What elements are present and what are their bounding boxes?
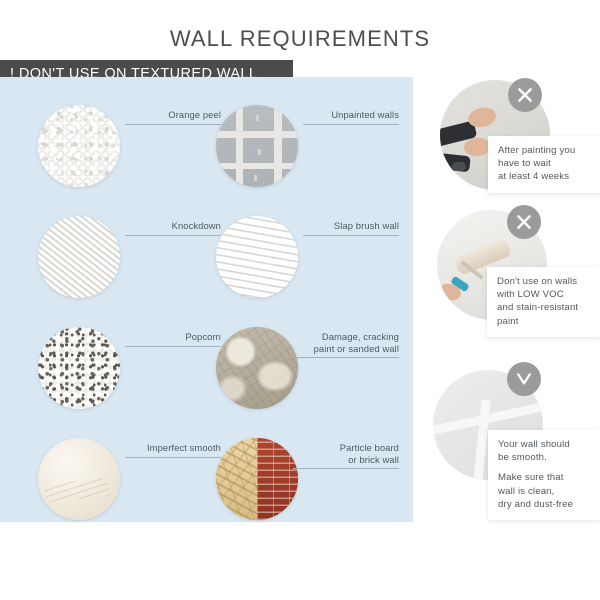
note-line: have to wait (498, 157, 597, 170)
texture-slap-brush-swatch (216, 216, 298, 298)
texture-orange-peel-swatch (38, 105, 120, 187)
texture-item-damage-cracking: Damage, cracking paint or sanded wall (203, 313, 403, 424)
requirement-note-card: Your wall should be smooth. Make sure th… (488, 430, 600, 520)
note-paragraph: Make sure that wall is clean, dry and du… (498, 471, 591, 511)
requirement-item-low-voc: Don't use on walls with LOW VOC and stai… (437, 205, 600, 330)
infographic-root: WALL REQUIREMENTS ! DON'T USE ON TEXTURE… (0, 0, 600, 600)
texture-item-orange-peel: Orange peel (25, 91, 225, 202)
texture-item-imperfect-smooth: Imperfect smooth (25, 424, 225, 535)
texture-particle-board-brick-swatch (216, 438, 298, 520)
note-line: Your wall should (498, 439, 570, 450)
texture-item-popcorn: Popcorn (25, 313, 225, 424)
note-line: and stain-resistant (497, 301, 591, 314)
texture-label: Slap brush wall (303, 220, 399, 236)
texture-label: Particle board or brick wall (293, 442, 399, 469)
note-line: paint (497, 315, 591, 328)
check-icon (507, 362, 541, 396)
note-line: with LOW VOC (497, 288, 591, 301)
requirement-note-card: Don't use on walls with LOW VOC and stai… (487, 267, 600, 337)
note-line: After painting you (498, 144, 597, 157)
cross-icon (508, 78, 542, 112)
note-paragraph: Your wall should be smooth. (498, 438, 591, 464)
texture-grid: Orange peel Unpainted walls Knockdown Sl… (0, 77, 413, 522)
requirement-note-card: After painting you have to wait at least… (488, 136, 600, 193)
texture-imperfect-smooth-swatch (38, 438, 120, 520)
texture-unpainted-walls-swatch (216, 105, 298, 187)
page-title: WALL REQUIREMENTS (0, 26, 600, 52)
texture-item-unpainted-walls: Unpainted walls (203, 91, 403, 202)
cross-icon (507, 205, 541, 239)
texture-damage-cracking-swatch (216, 327, 298, 409)
texture-knockdown-swatch (38, 216, 120, 298)
texture-item-slap-brush-wall: Slap brush wall (203, 202, 403, 313)
note-line: dry and dust-free (498, 499, 573, 510)
texture-popcorn-swatch (38, 327, 120, 409)
texture-item-knockdown: Knockdown (25, 202, 225, 313)
requirement-item-wait-4-weeks: After painting you have to wait at least… (440, 78, 600, 198)
note-line: be smooth. (498, 452, 547, 463)
note-line: wall is clean, (498, 486, 555, 497)
texture-label: Unpainted walls (303, 109, 399, 125)
texture-item-particle-board-brick: Particle board or brick wall (203, 424, 403, 535)
note-line: Don't use on walls (497, 275, 591, 288)
texture-label: Damage, cracking paint or sanded wall (287, 331, 399, 358)
note-line: Make sure that (498, 472, 564, 483)
requirement-item-smooth-clean-wall: Your wall should be smooth. Make sure th… (433, 362, 600, 502)
note-line: at least 4 weeks (498, 170, 597, 183)
